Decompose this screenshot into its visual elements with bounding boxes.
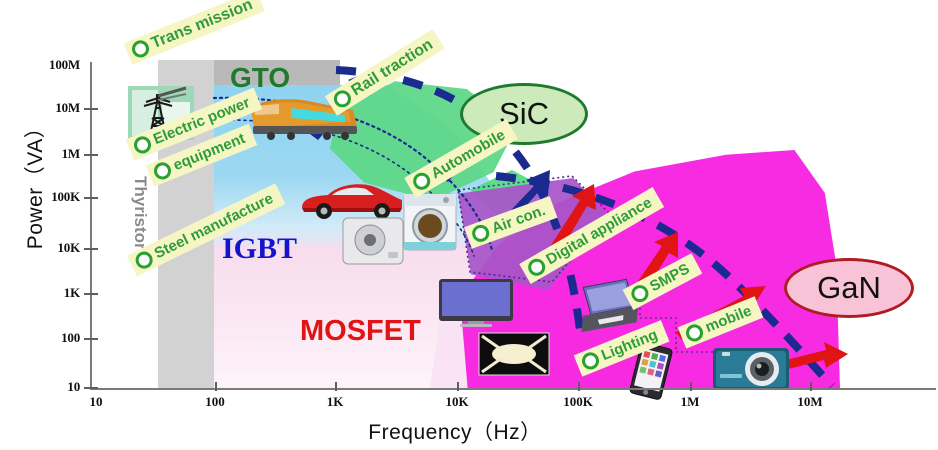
label-gto: GTO <box>230 62 290 94</box>
label-mosfet: MOSFET <box>300 315 421 348</box>
bullet-ring-icon <box>131 134 153 156</box>
bullet-ring-icon <box>133 249 156 272</box>
bullet-ring-icon <box>470 222 492 244</box>
washing-machine-icon <box>402 192 458 252</box>
x-tick-mark <box>690 382 692 391</box>
y-tick-mark <box>84 197 98 199</box>
bullet-ring-icon <box>683 322 705 344</box>
tv-monitor-icon <box>438 278 514 328</box>
y-tick-label: 1K <box>64 285 80 301</box>
x-tick-label: 100 <box>205 394 225 410</box>
x-tick-label: 1K <box>327 394 344 410</box>
x-tick-label: 10 <box>90 394 103 410</box>
application-tag-label: Trans mission <box>149 0 255 52</box>
x-tick-mark <box>578 382 580 391</box>
y-tick-label: 1M <box>62 146 80 162</box>
air-conditioner-icon <box>342 216 404 266</box>
bullet-ring-icon <box>628 282 651 305</box>
label-igbt: IGBT <box>222 232 297 266</box>
y-tick-mark <box>84 338 98 340</box>
bullet-ring-icon <box>410 170 433 193</box>
x-tick-label: 100K <box>563 394 593 410</box>
application-tag: Trans mission <box>124 0 265 65</box>
bullet-ring-icon <box>129 38 151 60</box>
bullet-ring-icon <box>525 256 548 279</box>
led-panel-icon <box>478 332 550 376</box>
y-tick-mark <box>84 154 98 156</box>
y-axis-line <box>90 62 92 390</box>
x-tick-label: 10M <box>797 394 822 410</box>
x-tick-mark <box>810 382 812 391</box>
x-axis-title: Frequency（Hz） <box>245 416 665 446</box>
y-tick-label: 100M <box>49 57 80 73</box>
chart-canvas: GTO Thyristor IGBT MOSFET SiC GaN Trans … <box>0 0 938 450</box>
sports-car-icon <box>298 178 406 220</box>
y-tick-label: 10K <box>57 240 80 256</box>
x-tick-mark <box>335 382 337 391</box>
x-tick-mark <box>457 382 459 391</box>
y-tick-mark <box>84 293 98 295</box>
bullet-ring-icon <box>331 87 354 110</box>
x-tick-mark <box>215 382 217 391</box>
y-tick-mark <box>84 248 98 250</box>
camera-icon <box>712 344 790 394</box>
y-tick-label: 10 <box>67 379 80 395</box>
bullet-ring-icon <box>579 350 601 372</box>
y-axis-title: Power（VA） <box>19 113 49 253</box>
x-tick-label: 10K <box>445 394 468 410</box>
y-tick-label: 10M <box>55 100 80 116</box>
y-tick-mark <box>84 387 98 389</box>
x-tick-label: 1M <box>681 394 700 410</box>
y-tick-label: 100 <box>61 330 80 346</box>
bullet-ring-icon <box>151 160 173 182</box>
y-tick-mark <box>84 108 98 110</box>
badge-gan: GaN <box>784 258 914 318</box>
label-thyristor: Thyristor <box>130 176 150 250</box>
y-tick-label: 100K <box>51 189 80 205</box>
